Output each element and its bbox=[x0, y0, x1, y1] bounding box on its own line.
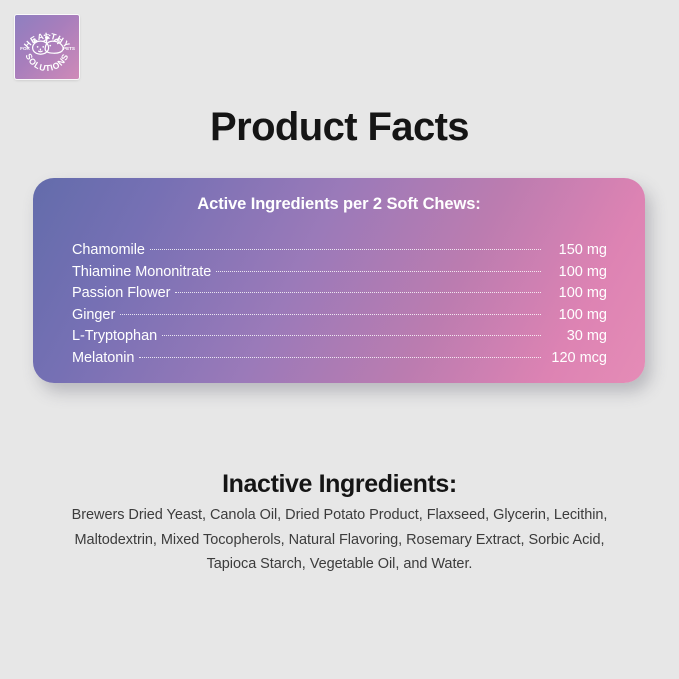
dotted-leader bbox=[216, 255, 541, 276]
ingredient-name: Chamomile bbox=[72, 240, 145, 261]
ingredient-row: Melatonin 120 mcg bbox=[72, 341, 607, 362]
inactive-ingredients-line: Brewers Dried Yeast, Canola Oil, Dried P… bbox=[0, 503, 679, 528]
dotted-leader bbox=[175, 276, 541, 297]
active-ingredients-header: Active Ingredients per 2 Soft Chews: bbox=[33, 193, 645, 215]
ingredient-amount: 150 mg bbox=[545, 240, 607, 261]
brand-logo-artwork: HEALTHY SOLUTIONS FOR PETS bbox=[15, 15, 79, 79]
ingredient-amount: 30 mg bbox=[545, 326, 607, 347]
ingredient-amount: 100 mg bbox=[545, 305, 607, 326]
ingredient-amount: 120 mcg bbox=[545, 348, 607, 369]
ingredient-amount: 100 mg bbox=[545, 262, 607, 283]
dotted-leader bbox=[162, 319, 541, 340]
logo-bottom-arc-text: SOLUTIONS bbox=[23, 52, 70, 73]
ingredient-amount: 100 mg bbox=[545, 283, 607, 304]
dotted-leader bbox=[139, 341, 541, 362]
dotted-leader bbox=[120, 298, 541, 319]
ingredient-name: Melatonin bbox=[72, 348, 134, 369]
ingredient-row: Chamomile 150 mg bbox=[72, 233, 607, 254]
active-ingredients-panel: Active Ingredients per 2 Soft Chews: Cha… bbox=[33, 178, 645, 383]
ingredient-row: Thiamine Mononitrate 100 mg bbox=[72, 255, 607, 276]
dotted-leader bbox=[150, 233, 541, 254]
ingredient-row: Ginger 100 mg bbox=[72, 298, 607, 319]
logo-left-text: FOR bbox=[20, 46, 30, 51]
inactive-ingredients-body: Brewers Dried Yeast, Canola Oil, Dried P… bbox=[0, 503, 679, 577]
active-ingredients-list: Chamomile 150 mg Thiamine Mononitrate 10… bbox=[72, 233, 607, 362]
inactive-ingredients-title: Inactive Ingredients: bbox=[0, 468, 679, 500]
logo-right-text: PETS bbox=[63, 46, 75, 51]
ingredient-row: L-Tryptophan 30 mg bbox=[72, 319, 607, 340]
inactive-ingredients-line: Tapioca Starch, Vegetable Oil, and Water… bbox=[0, 552, 679, 577]
page-title: Product Facts bbox=[0, 103, 679, 151]
inactive-ingredients-line: Maltodextrin, Mixed Tocopherols, Natural… bbox=[0, 528, 679, 553]
brand-logo: HEALTHY SOLUTIONS FOR PETS bbox=[15, 15, 79, 79]
ingredient-name: Ginger bbox=[72, 305, 115, 326]
